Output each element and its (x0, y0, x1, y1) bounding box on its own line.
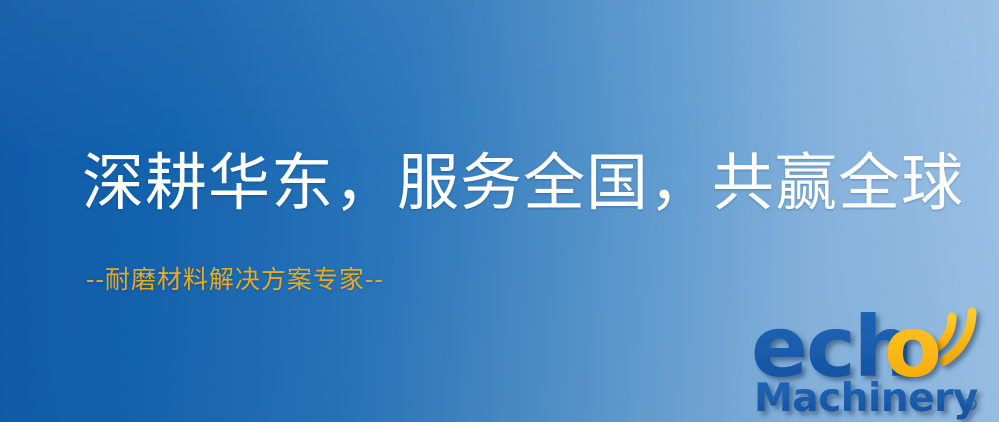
logo-trademark-symbol: ® (962, 395, 979, 415)
logo-text-machinery: Machinery (754, 376, 978, 421)
banner-subtitle: --耐磨材料解决方案专家-- (86, 267, 384, 292)
echo-machinery-logo[interactable]: ech o Machinery ® (748, 293, 999, 419)
hero-banner: 深耕华东，服务全国，共赢全球 --耐磨材料解决方案专家-- (0, 0, 999, 422)
banner-headline: 深耕华东，服务全国，共赢全球 (82, 152, 964, 214)
